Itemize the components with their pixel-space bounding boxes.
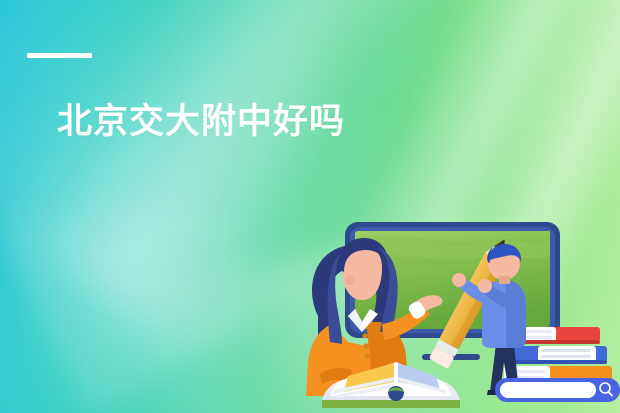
title-accent-rule <box>27 53 92 58</box>
banner-card: 北京交大附中好吗 <box>0 0 620 413</box>
page-title: 北京交大附中好吗 <box>57 103 345 142</box>
search-bar[interactable] <box>495 378 620 402</box>
book-red <box>522 327 600 344</box>
background-light-streak-6 <box>0 210 240 413</box>
education-illustration <box>300 196 620 413</box>
search-input[interactable] <box>500 382 596 398</box>
book-blue <box>512 346 607 364</box>
magnifier-icon[interactable] <box>596 380 616 400</box>
